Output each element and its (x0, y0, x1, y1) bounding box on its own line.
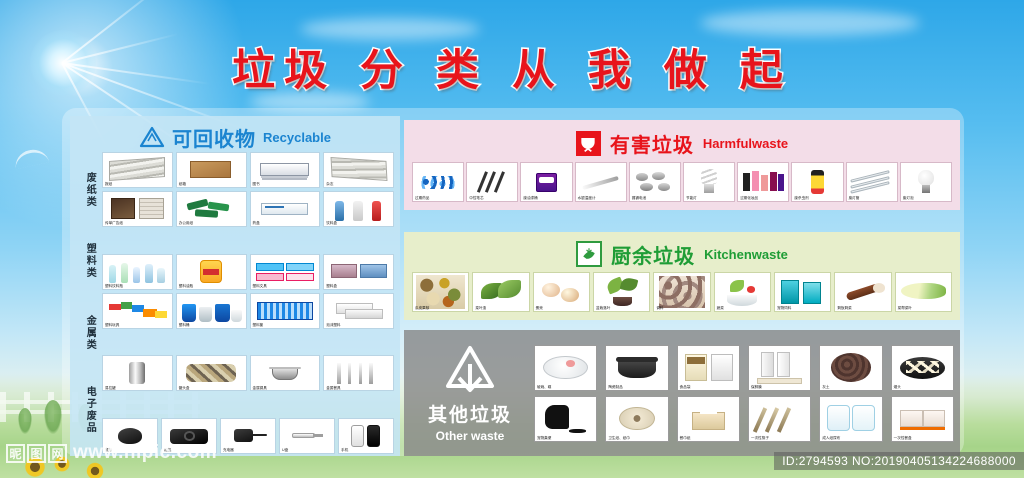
item-label: 食品袋 (680, 386, 691, 390)
item-label: 过期药品 (415, 197, 429, 201)
recyclable-side-labels: 废纸类 塑料类 金属类 电子废品 (76, 152, 102, 454)
light-bulb-icon (902, 164, 950, 200)
recyclable-group-plastic: 塑料饮料瓶 塑料油瓶 塑料文具 塑料盒 塑料玩具 塑料桶 塑料筐 泡沫塑料 (102, 254, 394, 329)
item-label: 充电器 (223, 449, 234, 453)
recyclable-title-cn: 可回收物 (172, 123, 256, 152)
item-cell[interactable]: 一次性餐盒 (891, 396, 954, 442)
item-cell[interactable]: 餐巾纸 (677, 396, 740, 442)
item-label: 中性笔芯 (469, 197, 483, 201)
item-cell[interactable]: 药盒 (250, 191, 321, 227)
item-cell[interactable]: 宠物粪便 (534, 396, 597, 442)
plastic-toys-icon (104, 295, 171, 327)
bone-icon (836, 274, 889, 310)
item-label: 菜叶渣 (475, 307, 486, 311)
panel-kitchen: 厨余垃圾 Kitchenwaste 瓜皮果核 菜叶渣 蛋壳 盆栽落叶 调料 蔬菜… (404, 232, 960, 320)
pet-waste-icon (536, 398, 595, 440)
item-label: 烟头 (894, 386, 901, 390)
other-title-cn: 其他垃圾 (428, 400, 512, 427)
item-cell[interactable]: 充电器 (220, 418, 276, 454)
item-label: 纸箱 (179, 183, 186, 187)
eggshells-icon (535, 274, 588, 310)
category-label-plastic: 塑料类 (84, 243, 95, 279)
newspaper-stack-icon (104, 154, 171, 186)
item-label: 宠物粪便 (537, 437, 551, 441)
item-cell[interactable]: 食品袋 (677, 345, 740, 391)
recyclable-body: 废纸类 塑料类 金属类 电子废品 报纸 纸箱 图书 杂志 传单广告纸 办公用纸 … (76, 152, 394, 454)
item-cell[interactable]: 泡沫塑料 (323, 293, 394, 329)
item-label: 塑料盒 (326, 285, 337, 289)
aluminum-can-icon (104, 357, 171, 389)
page-title: 垃圾 分 类 从 我 做 起 (0, 36, 1024, 98)
item-label: 保鲜膜 (751, 386, 762, 390)
thermometer-icon (577, 164, 625, 200)
item-label: 调料 (656, 307, 663, 311)
item-cell[interactable]: 镍镉电池 (629, 162, 681, 202)
ceramic-pot-icon (607, 347, 666, 389)
item-label: 泡沫塑料 (326, 324, 340, 328)
item-label: 金属锅具 (253, 387, 267, 391)
insecticide-spray-icon (793, 164, 841, 200)
other-waste-icon (439, 344, 501, 398)
item-label: 药盒 (253, 222, 260, 226)
pen-refills-icon (468, 164, 516, 200)
id-bar: ID:2794593 NO:20190405134224688000 (774, 452, 1024, 470)
item-label: 菜帮菜叶 (898, 307, 912, 311)
disposable-chopsticks-icon (750, 398, 809, 440)
harmful-waste-icon (576, 131, 601, 156)
item-cell[interactable]: 办公用纸 (176, 191, 247, 227)
item-label: 餐巾纸 (680, 437, 691, 441)
food-bags-icon (679, 347, 738, 389)
item-label: 塑料油瓶 (179, 285, 193, 289)
item-cell[interactable]: 过期化妆品 (737, 162, 789, 202)
item-label: 成人纸尿布 (822, 437, 840, 441)
watermark-logo-char: 图 (27, 444, 46, 463)
item-cell[interactable]: 塑料饮料瓶 (102, 254, 173, 290)
plastic-buckets-icon (178, 295, 245, 327)
item-label: 盆栽落叶 (596, 307, 610, 311)
item-label: 办公用纸 (179, 222, 193, 226)
item-label: 饮料盒 (326, 222, 337, 226)
item-label: 瓜皮果核 (415, 307, 429, 311)
toilet-paper-icon (607, 398, 666, 440)
item-label: 塑料筐 (253, 324, 264, 328)
item-cell[interactable]: 废灯泡 (900, 162, 952, 202)
item-cell[interactable]: 保鲜膜 (748, 345, 811, 391)
pills-icon (414, 164, 462, 200)
item-cell[interactable]: 传单广告纸 (102, 191, 173, 227)
plastic-boxes-icon (325, 256, 392, 288)
books-icon (252, 154, 319, 186)
scrap-metal-icon (178, 357, 245, 389)
cabbage-icon (897, 274, 950, 310)
item-label: 镍镉电池 (632, 197, 646, 201)
cloud (700, 10, 920, 36)
watermark-logo-char: 网 (48, 444, 67, 463)
item-cell[interactable]: 罐头盒 (176, 355, 247, 391)
item-cell[interactable]: 废灯管 (846, 162, 898, 202)
item-cell[interactable]: U盘 (279, 418, 335, 454)
spice-nuts-icon (655, 274, 708, 310)
item-label: 图书 (253, 183, 260, 187)
metal-cutlery-icon (325, 357, 392, 389)
item-cell[interactable]: 灰土 (819, 345, 882, 391)
item-cell[interactable]: 菜帮菜叶 (895, 272, 952, 312)
other-header: 其他垃圾 Other waste (406, 344, 534, 443)
item-label: 一次性筷子 (751, 437, 769, 441)
item-label: 灰土 (822, 386, 829, 390)
item-cell[interactable]: 陶瓷制品 (605, 345, 668, 391)
item-cell[interactable]: 卫生纸、纸巾 (605, 396, 668, 442)
item-cell[interactable]: 废杀虫剂 (791, 162, 843, 202)
item-cell[interactable]: 塑料油瓶 (176, 254, 247, 290)
dirt-soil-icon (821, 347, 880, 389)
item-cell[interactable]: 盆栽落叶 (593, 272, 650, 312)
potted-plant-icon (595, 274, 648, 310)
recyclable-header: 可回收物 Recyclable (76, 122, 394, 152)
oil-bottle-icon (178, 256, 245, 288)
item-cell[interactable]: 塑料筐 (250, 293, 321, 329)
medicine-box-icon (252, 193, 319, 225)
item-cell[interactable]: 饮料盒 (323, 191, 394, 227)
item-cell[interactable]: 纸箱 (176, 152, 247, 188)
kitchen-title-cn: 厨余垃圾 (611, 240, 695, 269)
item-label: 废杀虫剂 (794, 197, 808, 201)
kitchen-waste-icon (576, 241, 602, 267)
kitchen-items: 瓜皮果核 菜叶渣 蛋壳 盆栽落叶 调料 蔬菜 宠物饲料 剩饭剩菜 菜帮菜叶 (412, 272, 952, 312)
item-label: 水银温度计 (578, 197, 596, 201)
item-cell[interactable]: 废油漆桶 (520, 162, 572, 202)
harmful-title-cn: 有害垃圾 (610, 129, 694, 158)
item-label: 杂志 (326, 183, 333, 187)
item-cell[interactable]: 中性笔芯 (466, 162, 518, 202)
item-label: 蔬菜 (717, 307, 724, 311)
item-label: 塑料桶 (179, 324, 190, 328)
item-label: 塑料饮料瓶 (105, 285, 123, 289)
panel-harmful: 有害垃圾 Harmfulwaste 过期药品 中性笔芯 废油漆桶 水银温度计 镍… (404, 120, 960, 210)
plastic-wrap-icon (750, 347, 809, 389)
item-cell[interactable]: 金属锅具 (250, 355, 321, 391)
item-cell[interactable]: 塑料文具 (250, 254, 321, 290)
food-scraps-icon (414, 274, 467, 310)
item-cell[interactable]: 破碗、碟 (534, 345, 597, 391)
tissue-box-icon (679, 398, 738, 440)
item-label: 过期化妆品 (740, 197, 758, 201)
item-cell[interactable]: 图书 (250, 152, 321, 188)
item-label: 节能灯 (686, 197, 697, 201)
paint-bucket-icon (522, 164, 570, 200)
item-cell[interactable]: 节能灯 (683, 162, 735, 202)
item-label: 宠物饲料 (777, 307, 791, 311)
item-label: 塑料玩具 (105, 324, 119, 328)
nipic-logo-icon: 昵 图 网 (6, 444, 67, 463)
usb-drive-icon (281, 420, 333, 452)
watermark-logo-char: 昵 (6, 444, 25, 463)
item-label: 手机 (341, 449, 348, 453)
item-cell[interactable]: 手机 (338, 418, 394, 454)
item-label: 破碗、碟 (537, 386, 551, 390)
item-cell[interactable]: 塑料桶 (176, 293, 247, 329)
green-leaves-icon (474, 274, 527, 310)
item-label: 金属餐具 (326, 387, 340, 391)
item-label: 蛋壳 (536, 307, 543, 311)
item-cell[interactable]: 塑料玩具 (102, 293, 173, 329)
item-label: 卫生纸、纸巾 (608, 437, 630, 441)
category-label-ewaste: 电子废品 (84, 386, 95, 434)
item-cell[interactable]: 杂志 (323, 152, 394, 188)
item-label: 传单广告纸 (105, 222, 123, 226)
kitchen-title-en: Kitchenwaste (704, 247, 788, 262)
item-label: U盘 (282, 449, 288, 453)
cigarette-butts-icon (893, 347, 952, 389)
item-cell[interactable]: 一次性筷子 (748, 396, 811, 442)
kitchen-header: 厨余垃圾 Kitchenwaste (412, 236, 952, 272)
item-cell[interactable]: 蔬菜 (714, 272, 771, 312)
panel-recyclable: 可回收物 Recyclable 废纸类 塑料类 金属类 电子废品 报纸 纸箱 图… (70, 116, 400, 456)
cosmetics-icon (739, 164, 787, 200)
poster-root: 垃圾 分 类 从 我 做 起 可回收物 Recyclable 废纸类 塑料类 金… (0, 0, 1024, 478)
tree (44, 400, 62, 434)
recycle-triangle-icon (139, 126, 165, 148)
item-cell[interactable]: 水银温度计 (575, 162, 627, 202)
item-label: 废灯泡 (903, 197, 914, 201)
plastic-stationery-icon (252, 256, 319, 288)
item-cell[interactable]: 金属餐具 (323, 355, 394, 391)
item-label: 塑料文具 (253, 285, 267, 289)
bird-icon (13, 147, 50, 170)
item-cell[interactable]: 成人纸尿布 (819, 396, 882, 442)
item-label: 废灯管 (849, 197, 860, 201)
item-cell[interactable]: 报纸 (102, 152, 173, 188)
other-items: 破碗、碟 陶瓷制品 食品袋 保鲜膜 灰土 烟头 宠物粪便 卫生纸、纸巾 餐巾纸 … (534, 345, 954, 442)
salad-bowl-icon (716, 274, 769, 310)
watermark-url: www.nipic.com (73, 442, 217, 464)
other-title-en: Other waste (436, 429, 505, 443)
item-label: 一次性餐盒 (894, 437, 912, 441)
cfl-bulb-icon (685, 164, 733, 200)
item-label: 易拉罐 (105, 387, 116, 391)
foam-plastic-icon (325, 295, 392, 327)
broken-plate-icon (536, 347, 595, 389)
item-cell[interactable]: 蛋壳 (533, 272, 590, 312)
recyclable-group-metal: 易拉罐 罐头盒 金属锅具 金属餐具 (102, 355, 394, 391)
cardboard-box-icon (178, 154, 245, 186)
harmful-items: 过期药品 中性笔芯 废油漆桶 水银温度计 镍镉电池 节能灯 过期化妆品 废杀虫剂… (412, 162, 952, 202)
lunch-box-icon (893, 398, 952, 440)
item-cell[interactable]: 易拉罐 (102, 355, 173, 391)
fluorescent-tubes-icon (848, 164, 896, 200)
item-cell[interactable]: 瓜皮果核 (412, 272, 469, 312)
tree (18, 408, 32, 434)
item-cell[interactable]: 烟头 (891, 345, 954, 391)
item-label: 陶瓷制品 (608, 386, 622, 390)
metal-pots-icon (252, 357, 319, 389)
item-cell[interactable]: 塑料盒 (323, 254, 394, 290)
panel-other: 其他垃圾 Other waste 破碗、碟 陶瓷制品 食品袋 保鲜膜 灰土 烟头… (404, 330, 960, 456)
item-label: 报纸 (105, 183, 112, 187)
plastic-bottles-icon (104, 256, 171, 288)
category-label-metal: 金属类 (84, 315, 95, 351)
watermark: 昵 图 网 www.nipic.com (6, 442, 217, 464)
recyclable-title-en: Recyclable (263, 130, 331, 145)
button-batteries-icon (631, 164, 679, 200)
pet-food-icon (776, 274, 829, 310)
recyclable-group-paper: 报纸 纸箱 图书 杂志 传单广告纸 办公用纸 药盒 饮料盒 (102, 152, 394, 227)
item-cell[interactable]: 调料 (653, 272, 710, 312)
item-label: 剩饭剩菜 (837, 307, 851, 311)
item-cell[interactable]: 宠物饲料 (774, 272, 831, 312)
harmful-header: 有害垃圾 Harmfulwaste (412, 124, 952, 162)
plastic-crate-icon (252, 295, 319, 327)
item-cell[interactable]: 过期药品 (412, 162, 464, 202)
recyclable-grid: 报纸 纸箱 图书 杂志 传单广告纸 办公用纸 药盒 饮料盒 塑料饮料瓶 塑料油瓶… (102, 152, 394, 454)
item-cell[interactable]: 菜叶渣 (472, 272, 529, 312)
page-title-text: 垃圾 分 类 从 我 做 起 (232, 36, 792, 98)
item-label: 废油漆桶 (523, 197, 537, 201)
crumpled-paper-icon (325, 154, 392, 186)
harmful-title-en: Harmfulwaste (703, 136, 788, 151)
diapers-icon (821, 398, 880, 440)
category-label-paper: 废纸类 (84, 172, 95, 208)
item-label: 罐头盒 (179, 387, 190, 391)
item-cell[interactable]: 剩饭剩菜 (834, 272, 891, 312)
